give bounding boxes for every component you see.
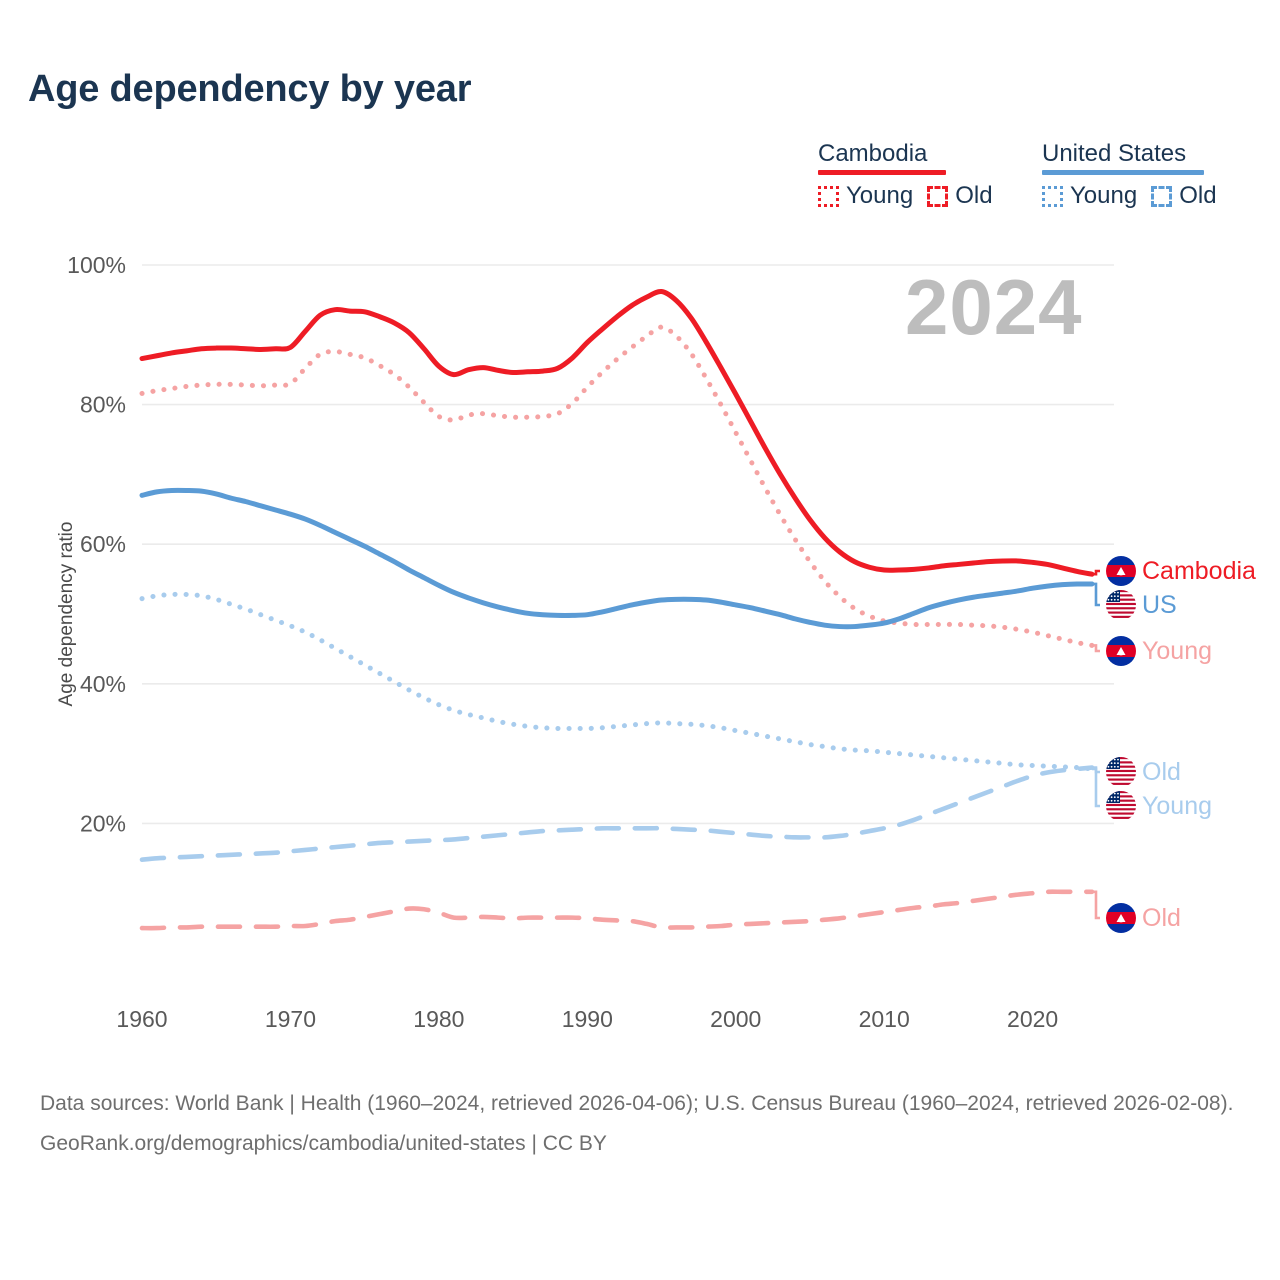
series-line-united-states-young	[142, 594, 1092, 769]
end-label-young-4[interactable]: Young	[1106, 791, 1212, 821]
x-axis-tick-label: 1990	[562, 1006, 613, 1032]
us-flag-icon	[1106, 791, 1136, 821]
cambodia-flag-icon	[1106, 636, 1136, 666]
series-line-cambodia-old	[142, 892, 1092, 928]
end-label-text: US	[1142, 593, 1177, 618]
cambodia-flag-icon	[1106, 556, 1136, 586]
x-axis-tick-labels: 1960197019801990200020102020	[116, 1006, 1058, 1032]
end-label-cambodia-0[interactable]: Cambodia	[1106, 556, 1256, 586]
series-line-cambodia-young	[142, 327, 1092, 645]
cambodia-flag-icon	[1106, 903, 1136, 933]
us-flag-icon	[1106, 757, 1136, 787]
chart-plot-area: 20%40%60%80%100% 19601970198019902000201…	[0, 0, 1280, 1050]
leader-line	[1092, 645, 1100, 651]
leader-line	[1092, 892, 1100, 918]
x-axis-tick-label: 2020	[1007, 1006, 1058, 1032]
y-axis-tick-label: 20%	[80, 810, 126, 836]
end-label-text: Young	[1142, 794, 1212, 819]
data-series-lines	[142, 291, 1092, 928]
x-axis-tick-label: 2000	[710, 1006, 761, 1032]
footer-data-sources: Data sources: World Bank | Health (1960–…	[40, 1087, 1250, 1120]
end-label-us-1[interactable]: US	[1106, 590, 1177, 620]
leader-line	[1092, 584, 1100, 605]
end-label-young-2[interactable]: Young	[1106, 636, 1212, 666]
y-axis-title: Age dependency ratio	[56, 522, 77, 707]
end-label-text: Young	[1142, 639, 1212, 664]
y-axis-tick-label: 100%	[67, 252, 126, 278]
end-label-old-5[interactable]: Old	[1106, 903, 1181, 933]
us-flag-icon	[1106, 590, 1136, 620]
end-label-text: Old	[1142, 760, 1181, 785]
series-line-united-states-old	[142, 768, 1092, 860]
y-axis-tick-label: 60%	[80, 531, 126, 557]
leader-line	[1092, 769, 1100, 806]
y-axis-tick-label: 40%	[80, 671, 126, 697]
end-label-text: Cambodia	[1142, 559, 1256, 584]
end-label-old-3[interactable]: Old	[1106, 757, 1181, 787]
x-axis-tick-label: 1960	[116, 1006, 167, 1032]
x-axis-tick-label: 1970	[265, 1006, 316, 1032]
x-axis-tick-label: 2010	[859, 1006, 910, 1032]
end-label-text: Old	[1142, 906, 1181, 931]
y-axis-tick-label: 80%	[80, 392, 126, 418]
series-line-united-states	[142, 490, 1092, 626]
line-chart-svg: 20%40%60%80%100% 19601970198019902000201…	[0, 0, 1280, 1050]
label-leader-lines	[1092, 571, 1100, 918]
footer-attribution: GeoRank.org/demographics/cambodia/united…	[40, 1127, 1250, 1160]
footer-credits: Data sources: World Bank | Health (1960–…	[40, 1087, 1250, 1160]
x-axis-tick-label: 1980	[413, 1006, 464, 1032]
series-line-cambodia	[142, 291, 1092, 574]
